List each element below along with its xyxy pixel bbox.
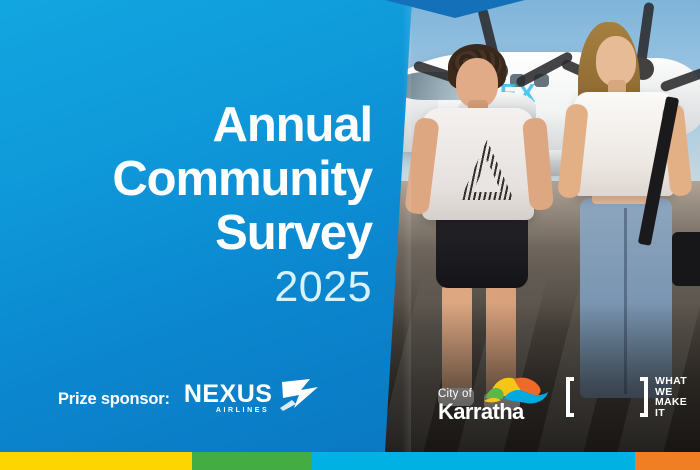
bottom-color-bar [0, 452, 700, 470]
city-of-karratha-logo: City of Karratha [438, 374, 550, 420]
prize-sponsor-row: Prize sponsor: NEXUS AIRLINES [58, 380, 316, 418]
page-title: Annual Community Survey [0, 98, 372, 260]
prize-sponsor-label: Prize sponsor: [58, 390, 170, 409]
nexus-airlines-logo: NEXUS AIRLINES [184, 380, 316, 418]
title-year: 2025 [0, 264, 372, 310]
what-we-make-it-logo: WHAT WE MAKE IT [566, 375, 687, 419]
title-line-2: Community [0, 152, 372, 206]
man-shorts [436, 212, 528, 288]
bracket-left-icon [566, 377, 574, 417]
woman-head [596, 36, 636, 86]
nexus-wordmark: NEXUS [184, 382, 273, 407]
panel-diagonal-edge [402, 0, 411, 452]
karratha-sunrise-icon [484, 372, 550, 406]
nexus-subtext: AIRLINES [216, 407, 269, 414]
poster-canvas: NEX [0, 0, 700, 470]
bracket-right-icon [640, 377, 648, 417]
wwmi-line-4: IT [655, 408, 687, 419]
colorbar-segment-cyan [312, 452, 635, 470]
title-line-1: Annual [0, 98, 372, 152]
partner-logo-lockup: City of Karratha WHAT WE MAKE IT [438, 374, 687, 420]
colorbar-segment-green [192, 452, 312, 470]
wwmi-line-3: MAKE [655, 397, 687, 408]
woman-shoulder-bag [672, 232, 700, 286]
colorbar-segment-yellow [0, 452, 192, 470]
title-line-3: Survey [0, 206, 372, 260]
wwmi-line-1: WHAT [655, 376, 687, 387]
colorbar-segment-orange [635, 452, 700, 470]
wwmi-text-block: WHAT WE MAKE IT [655, 376, 687, 418]
nexus-bird-mark [280, 378, 320, 412]
